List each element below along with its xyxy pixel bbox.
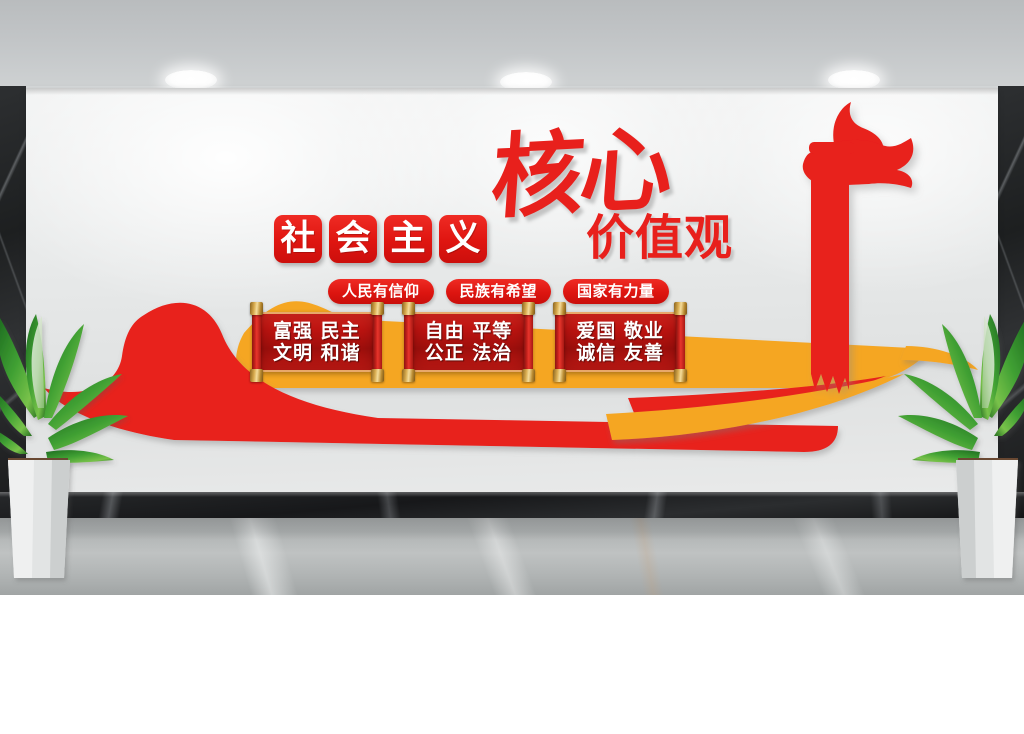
title-char-2: 会 [335, 222, 370, 257]
scroll-cap-icon [553, 302, 566, 315]
slogan-pill-2: 民族有希望 [446, 279, 552, 304]
plant-left [0, 268, 144, 595]
torch-collar [809, 142, 855, 154]
title-char-1: 社 [280, 222, 315, 257]
torch-shaft [811, 170, 849, 394]
scroll-cap-icon [553, 369, 566, 382]
scroll-cap-icon [250, 369, 263, 382]
value-scroll-group: 富强 民主 文明 和谐 自由 平等 公正 法治 [252, 306, 685, 378]
ceiling-spotlight-right [828, 70, 880, 90]
title-char-4: 义 [445, 222, 480, 257]
slogan-pill-1: 人民有信仰 [328, 279, 434, 304]
planter-right [956, 460, 1018, 578]
floor-reflection [0, 518, 1024, 540]
plant-right [882, 268, 1024, 595]
scroll-line-3b: 诚信 友善 [576, 342, 664, 364]
scroll-panel-1: 富强 民主 文明 和谐 [261, 312, 373, 372]
scroll-cap-icon [402, 369, 415, 382]
scroll-cap-icon [371, 302, 384, 315]
scroll-rod-left-1 [252, 309, 261, 375]
scroll-line-1a: 富强 民主 [273, 320, 361, 342]
baseboard-gloss [0, 492, 1024, 497]
title-box-3: 主 [384, 215, 432, 263]
scroll-cap-icon [402, 302, 415, 315]
screenshot-root: 社 会 主 义 核心 价值观 人民有信仰 民族有希望 国家有力量 富强 [0, 0, 1024, 734]
scroll-rod-left-3 [555, 309, 564, 375]
slogan-pill-label-1: 人民有信仰 [342, 284, 420, 299]
title-char-3: 主 [390, 222, 425, 257]
value-scroll-1: 富强 民主 文明 和谐 [252, 306, 382, 378]
title-character-boxes: 社 会 主 义 [274, 215, 487, 263]
wall-artwork: 社 会 主 义 核心 价值观 人民有信仰 民族有希望 国家有力量 富强 [26, 88, 998, 494]
planter-left [8, 460, 70, 578]
value-scroll-3: 爱国 敬业 诚信 友善 [555, 306, 685, 378]
scroll-line-3a: 爱国 敬业 [576, 320, 664, 342]
scroll-rod-right-1 [373, 309, 382, 375]
title-box-1: 社 [274, 215, 322, 263]
scroll-cap-icon [522, 302, 535, 315]
slogan-pill-label-2: 民族有希望 [460, 284, 538, 299]
footer-info: Ai 矢量文化墙设计 AI cc 2020 下载后为AI源文件 包含转曲和未转曲… [0, 595, 1024, 734]
scroll-line-1b: 文明 和谐 [273, 342, 361, 364]
scroll-line-2b: 公正 法治 [425, 342, 513, 364]
slogan-pill-label-3: 国家有力量 [577, 284, 655, 299]
scroll-line-2a: 自由 平等 [425, 320, 513, 342]
scroll-panel-3: 爱国 敬业 诚信 友善 [564, 312, 676, 372]
scroll-cap-icon [674, 302, 687, 315]
slogan-pill-3: 国家有力量 [563, 279, 669, 304]
title-box-4: 义 [439, 215, 487, 263]
title-box-2: 会 [329, 215, 377, 263]
value-scroll-2: 自由 平等 公正 法治 [404, 306, 534, 378]
subtitle-jiazhiguan: 价值观 [586, 214, 733, 262]
scroll-rod-right-3 [676, 309, 685, 375]
scroll-rod-left-2 [404, 309, 413, 375]
scroll-panel-2: 自由 平等 公正 法治 [413, 312, 525, 372]
slogan-pill-group: 人民有信仰 民族有希望 国家有力量 [328, 279, 669, 304]
ceiling-spotlight-left [165, 70, 217, 90]
room-scene: 社 会 主 义 核心 价值观 人民有信仰 民族有希望 国家有力量 富强 [0, 0, 1024, 595]
scroll-cap-icon [371, 369, 384, 382]
scroll-cap-icon [674, 369, 687, 382]
scroll-cap-icon [522, 369, 535, 382]
scroll-rod-right-2 [524, 309, 533, 375]
scroll-cap-icon [250, 302, 263, 315]
